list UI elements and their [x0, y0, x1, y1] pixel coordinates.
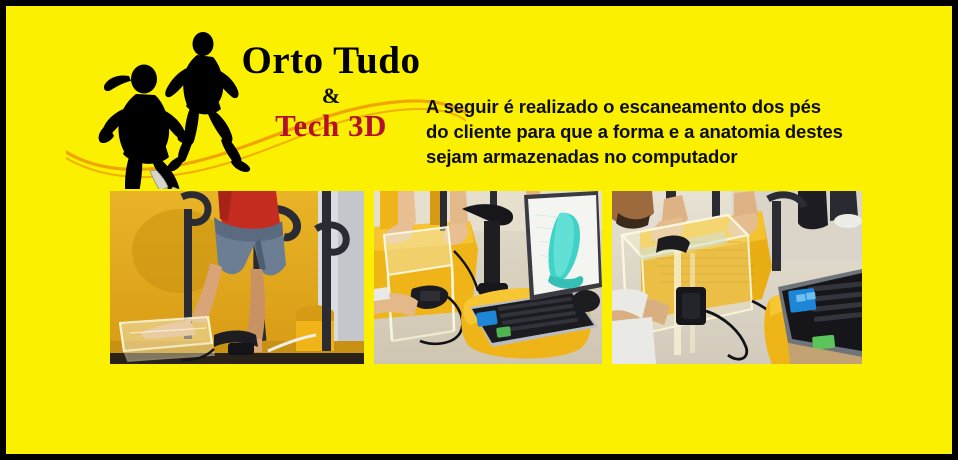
caption-line-1: A seguir é realizado o escaneamento dos …: [426, 94, 896, 119]
photo-client-standing-on-scanner: [110, 191, 364, 364]
logo-block: Orto Tudo & Tech 3D: [66, 24, 466, 189]
brand-name-primary: Orto Tudo: [206, 40, 456, 82]
brand-name-secondary: Tech 3D: [206, 109, 456, 143]
photo-strip: [110, 191, 862, 364]
caption-text: A seguir é realizado o escaneamento dos …: [426, 94, 896, 169]
logo-wordmark: Orto Tudo & Tech 3D: [206, 40, 456, 143]
brand-ampersand: &: [206, 84, 456, 108]
photo-acrylic-box-closeup: [612, 191, 862, 364]
caption-line-2: do cliente para que a forma e a anatomia…: [426, 119, 896, 144]
caption-line-3: sejam armazenadas no computador: [426, 144, 896, 169]
photo-laptop-3d-foot-scan: [374, 191, 602, 364]
slide-root: Orto Tudo & Tech 3D A seguir é realizado…: [0, 0, 958, 460]
slide-canvas: Orto Tudo & Tech 3D A seguir é realizado…: [6, 6, 952, 454]
